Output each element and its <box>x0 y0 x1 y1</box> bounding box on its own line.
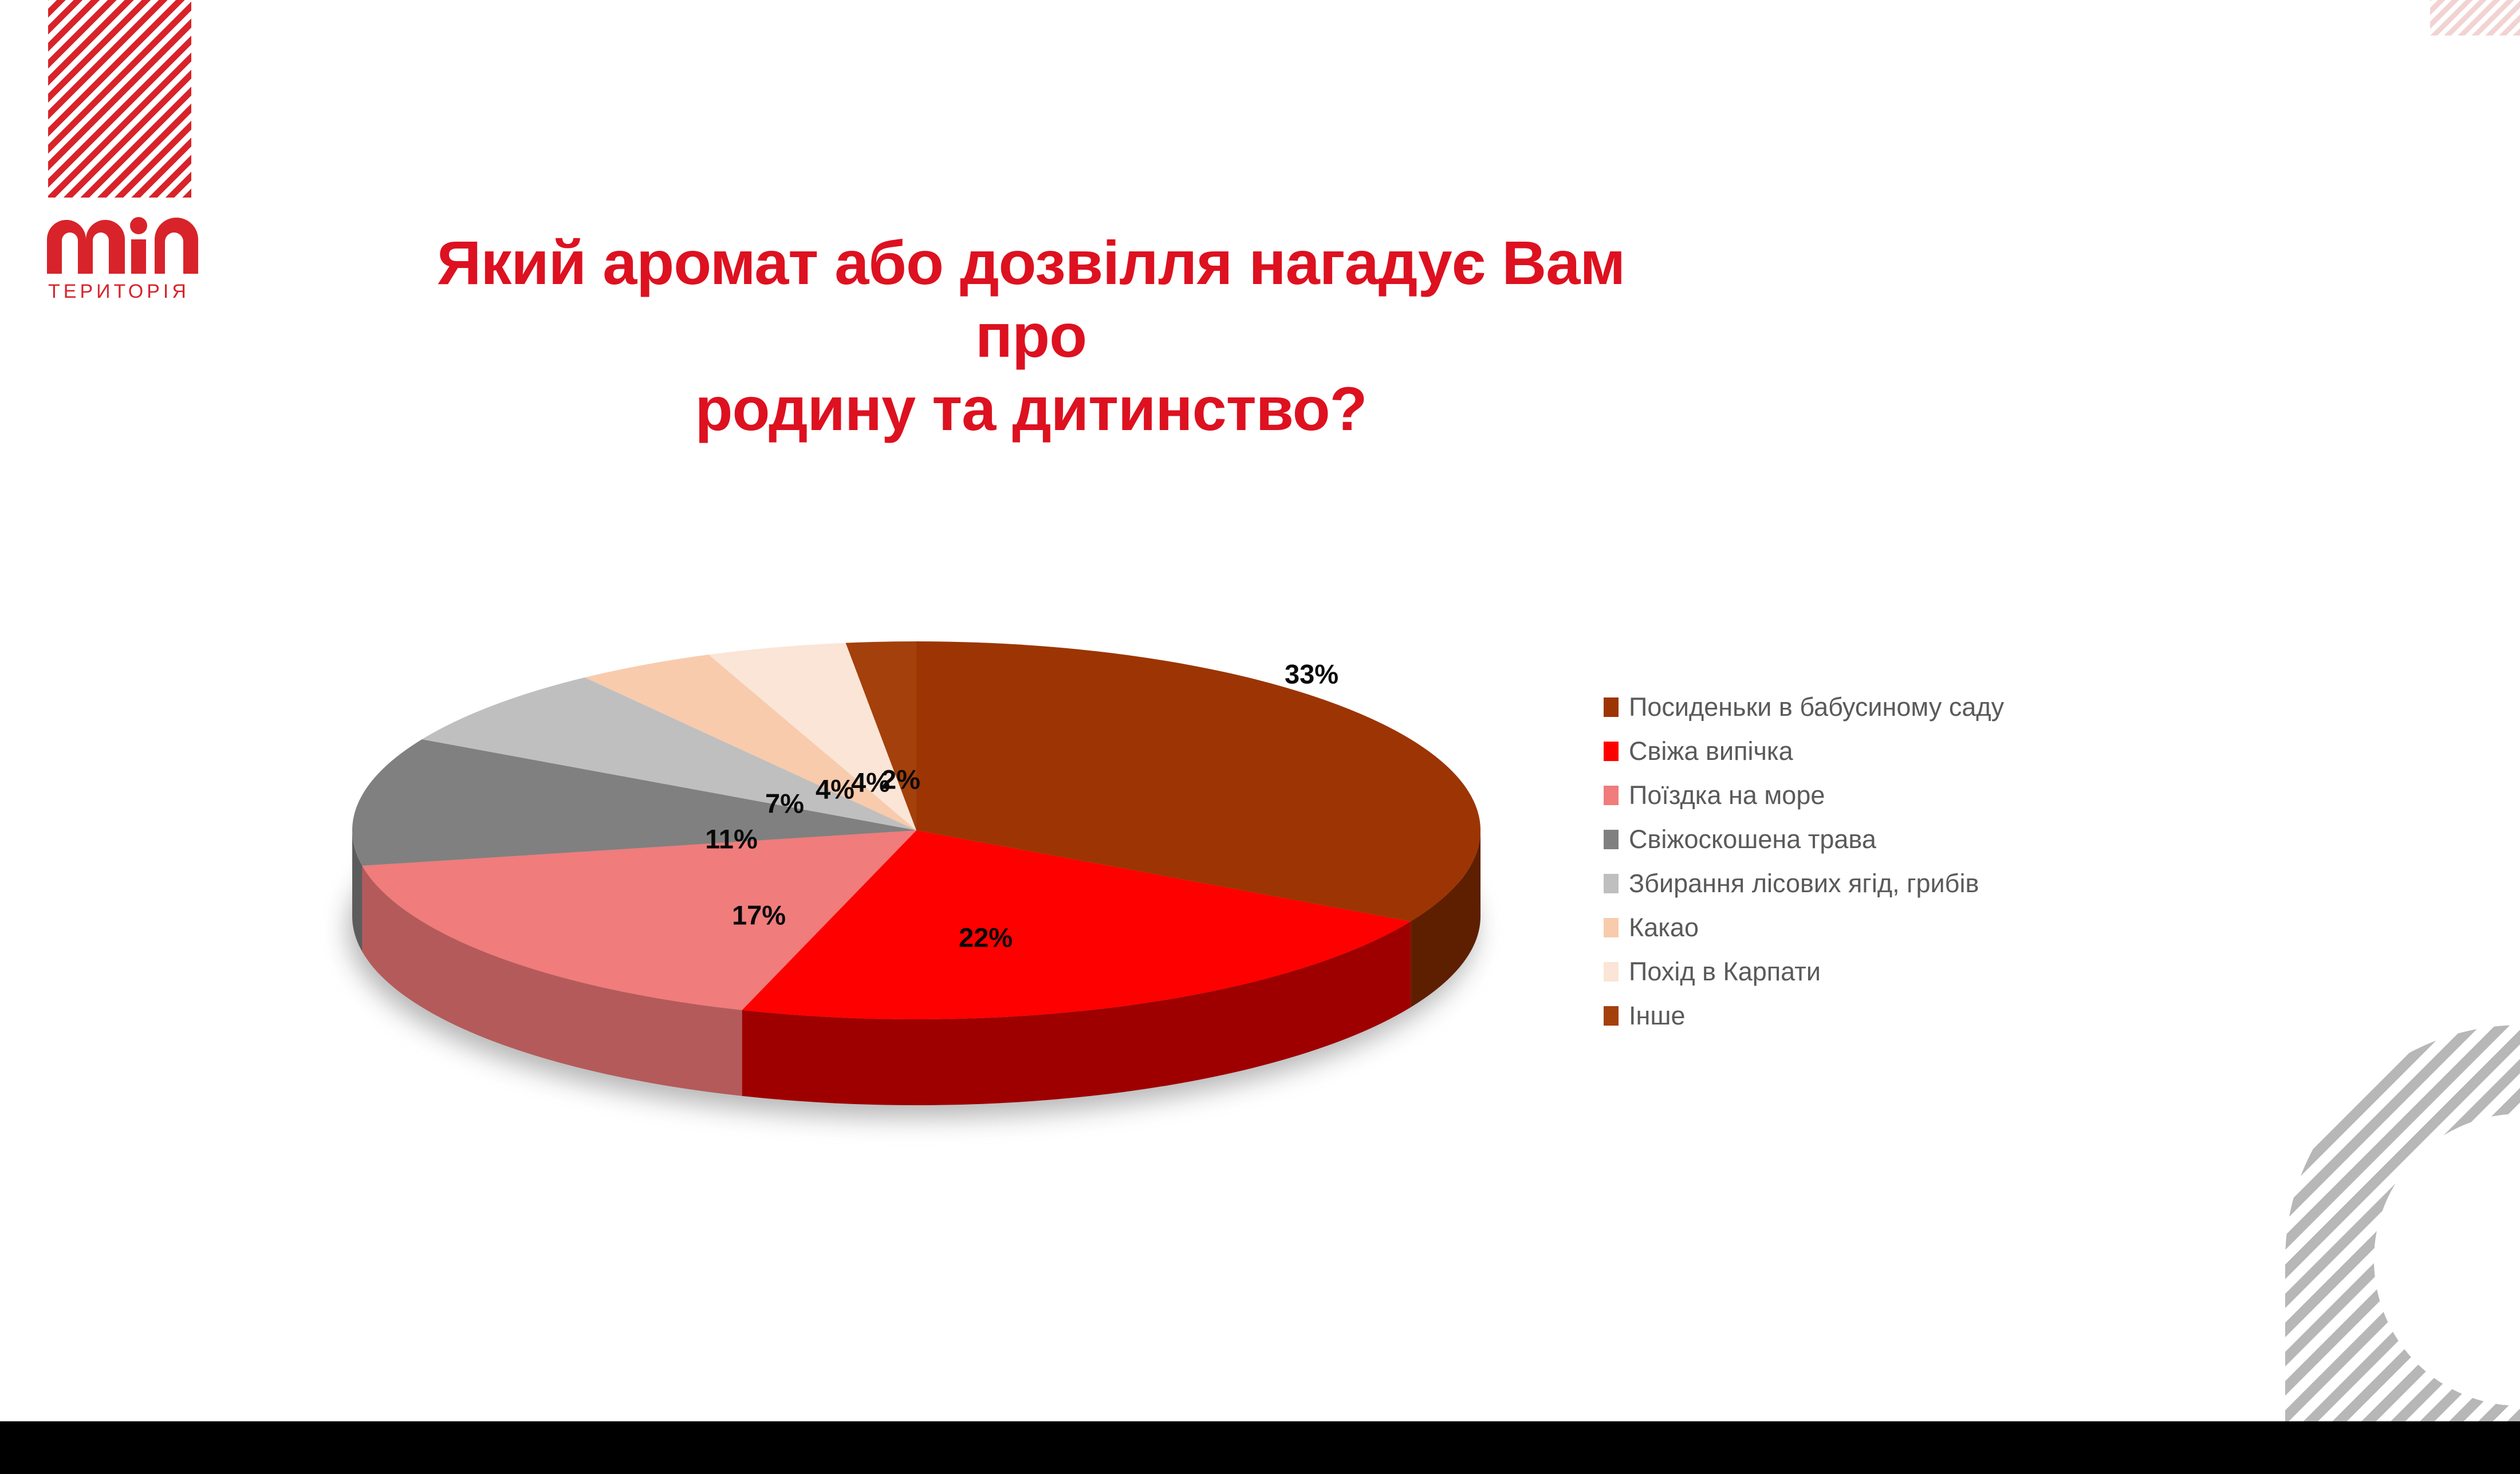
decorative-arch-shape-icon <box>2285 1025 2520 1421</box>
pie-slice-value-label: 4% <box>816 774 855 805</box>
pie-slice-value-label: 11% <box>705 823 757 855</box>
legend-item[interactable]: Поїздка на море <box>1604 773 2348 817</box>
legend-color-swatch <box>1604 786 1619 805</box>
legend-item-label: Похід в Карпати <box>1629 959 1821 984</box>
legend-item[interactable]: Какао <box>1604 905 2348 949</box>
legend-item[interactable]: Свіжоскошена трава <box>1604 817 2348 861</box>
legend-item[interactable]: Свіжа випічка <box>1604 729 2348 773</box>
legend-color-swatch <box>1604 874 1619 893</box>
logo-subtitle: ТЕРИТОРІЯ <box>48 281 197 303</box>
legend-item-label: Свіжоскошена трава <box>1629 826 1876 852</box>
brand-logo: ТЕРИТОРІЯ <box>41 0 236 355</box>
legend-color-swatch <box>1604 742 1619 761</box>
bottom-bar <box>0 1421 2520 1474</box>
pie-chart: 33%22%17%11%7%4%4%2% <box>321 515 1581 1231</box>
legend-item[interactable]: Інше <box>1604 994 2348 1038</box>
pie-slice-value-label: 17% <box>732 900 786 931</box>
legend-color-swatch <box>1604 918 1619 937</box>
legend-item-label: Свіжа випічка <box>1629 738 1793 764</box>
pie-slice-value-label: 33% <box>1285 659 1338 690</box>
legend-item[interactable]: Посиденьки в бабусиному саду <box>1604 685 2348 729</box>
legend-item[interactable]: Збирання лісових ягід, грибів <box>1604 861 2348 905</box>
decorative-stripes-top-right <box>2430 0 2520 36</box>
pie-slice-value-label: 2% <box>881 764 920 795</box>
legend-item-label: Поїздка на море <box>1629 782 1825 808</box>
logo-wordmark-min <box>46 212 200 275</box>
pie-top-faces <box>352 641 1480 1019</box>
legend-item[interactable]: Похід в Карпати <box>1604 949 2348 994</box>
legend-item-label: Інше <box>1629 1003 1685 1028</box>
logo-striped-square-icon <box>48 0 191 198</box>
pie-slice-value-label: 7% <box>765 788 804 819</box>
page-title-line-1: Який аромат або дозвілля нагадує Вам про <box>401 226 1661 372</box>
pie-chart-svg <box>321 515 1581 1231</box>
decorative-arch-bottom-right <box>2285 1025 2520 1421</box>
legend-color-swatch <box>1604 1006 1619 1026</box>
pie-slice-value-label: 22% <box>959 922 1013 953</box>
slide-canvas: ТЕРИТОРІЯ Який аромат або дозвілля нагад… <box>0 0 2520 1474</box>
legend-color-swatch <box>1604 830 1619 849</box>
page-title-line-2: родину та дитинство? <box>401 372 1661 445</box>
legend-item-label: Какао <box>1629 915 1699 940</box>
legend-color-swatch <box>1604 962 1619 982</box>
legend-color-swatch <box>1604 697 1619 717</box>
legend-item-label: Посиденьки в бабусиному саду <box>1629 694 2004 720</box>
chart-legend: Посиденьки в бабусиному садуСвіжа випічк… <box>1604 685 2348 1038</box>
legend-item-label: Збирання лісових ягід, грибів <box>1629 870 1979 896</box>
page-title: Який аромат або дозвілля нагадує Вам про… <box>401 226 1661 445</box>
